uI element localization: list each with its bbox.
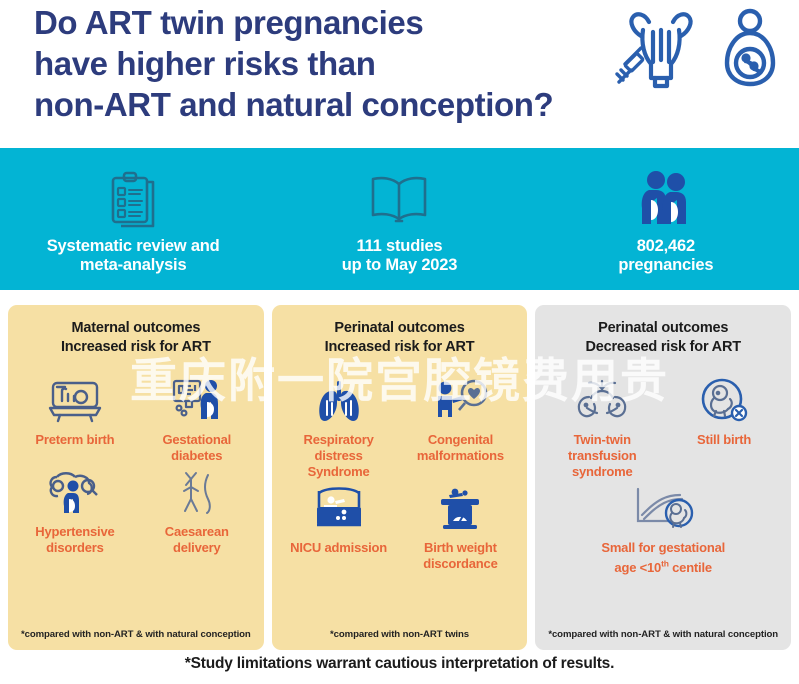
uterus-syringe-icon <box>611 8 711 95</box>
stat-label-studies: 111 studies up to May 2023 <box>342 237 458 275</box>
outcome-label-hypertensive-disorders: Hypertensive disorders <box>35 524 114 556</box>
page-title: Do ART twin pregnancies have higher risk… <box>34 2 594 125</box>
open-book-icon <box>368 169 430 229</box>
stat-item-studies: 111 studies up to May 2023 <box>266 148 532 290</box>
card-grid-perinatal-decreased: Twin-twin transfusion syndrome <box>541 374 785 629</box>
card-note-perinatal-decreased: *compared with non-ART & with natural co… <box>541 629 785 642</box>
footer-disclaimer: *Study limitations warrant cautious inte… <box>0 655 799 673</box>
card-title-perinatal-increased: Perinatal outcomes Increased risk for AR… <box>278 319 522 356</box>
outcome-respiratory-distress: Respiratory distress Syndrome <box>278 374 400 480</box>
header-icon-group <box>611 8 781 95</box>
outcome-small-for-gestational-age: Small for gestational age <10th centile <box>541 482 785 576</box>
incubator-icon <box>48 374 102 426</box>
two-pregnant-people-icon <box>637 169 695 229</box>
page-title-line-2: have higher risks than <box>34 43 594 84</box>
card-note-maternal: *compared with non-ART & with natural co… <box>14 629 258 642</box>
stat-item-systematic-review: Systematic review and meta-analysis <box>0 148 266 290</box>
outcome-label-nicu-admission: NICU admission <box>290 540 387 556</box>
blood-pressure-pregnant-icon <box>47 466 103 518</box>
outcome-twin-twin-transfusion: Twin-twin transfusion syndrome <box>541 374 663 480</box>
outcome-label-birth-weight-discordance: Birth weight discordance <box>423 540 497 572</box>
outcome-hypertensive-disorders: Hypertensive disorders <box>14 466 136 556</box>
card-perinatal-decreased: Perinatal outcomes Decreased risk for AR… <box>535 305 791 650</box>
card-grid-perinatal-increased: Respiratory distress Syndrome <box>278 374 522 629</box>
nicu-incubator-icon <box>311 482 367 534</box>
baby-heart-magnifier-icon <box>431 374 489 426</box>
clipboard-checklist-icon <box>107 169 159 229</box>
outcome-label-twin-twin-transfusion: Twin-twin transfusion syndrome <box>568 432 637 480</box>
stat-label-pregnancies: 802,462 pregnancies <box>618 237 713 275</box>
outcome-still-birth: Still birth <box>663 374 785 480</box>
outcome-label-respiratory-distress: Respiratory distress Syndrome <box>280 432 398 480</box>
outcome-congenital-malformations: Congenital malformations <box>400 374 522 480</box>
card-perinatal-increased: Perinatal outcomes Increased risk for AR… <box>272 305 528 650</box>
outcome-preterm-birth: Preterm birth <box>14 374 136 464</box>
sga-line-2: age <10th centile <box>614 560 712 575</box>
outcome-cards: Maternal outcomes Increased risk for ART <box>0 305 799 650</box>
outcome-label-preterm-birth: Preterm birth <box>35 432 114 448</box>
twin-fetuses-placenta-icon <box>573 374 631 426</box>
outcome-gestational-diabetes: Gestational diabetes <box>136 374 258 464</box>
lungs-icon <box>313 374 365 426</box>
card-maternal-outcomes: Maternal outcomes Increased risk for ART <box>8 305 264 650</box>
stat-label-systematic-review: Systematic review and meta-analysis <box>47 237 220 275</box>
outcome-label-caesarean-delivery: Caesarean delivery <box>165 524 229 556</box>
growth-chart-fetus-icon <box>624 482 702 534</box>
outcome-label-gestational-diabetes: Gestational diabetes <box>162 432 231 464</box>
outcome-birth-weight-discordance: Birth weight discordance <box>400 482 522 572</box>
card-grid-maternal: Preterm birth <box>14 374 258 629</box>
stat-item-pregnancies: 802,462 pregnancies <box>533 148 799 290</box>
stillbirth-fetus-cross-icon <box>698 374 750 426</box>
outcome-caesarean-delivery: Caesarean delivery <box>136 466 258 556</box>
card-title-perinatal-decreased: Perinatal outcomes Decreased risk for AR… <box>541 319 785 356</box>
page-title-line-1: Do ART twin pregnancies <box>34 2 594 43</box>
outcome-label-still-birth: Still birth <box>697 432 751 448</box>
outcome-label-small-for-gestational-age: Small for gestational age <10th centile <box>601 540 725 576</box>
header: Do ART twin pregnancies have higher risk… <box>0 0 799 145</box>
stats-band: Systematic review and meta-analysis 111 … <box>0 148 799 290</box>
card-note-perinatal-increased: *compared with non-ART twins <box>278 629 522 642</box>
caesarean-scar-icon <box>174 466 220 518</box>
baby-weight-scale-icon <box>435 482 485 534</box>
outcome-nicu-admission: NICU admission <box>278 482 400 572</box>
page-title-line-3: non-ART and natural conception? <box>34 84 594 125</box>
outcome-label-congenital-malformations: Congenital malformations <box>417 432 504 464</box>
pregnant-twins-icon <box>719 8 781 95</box>
glucose-monitor-pregnant-icon <box>170 374 224 426</box>
card-title-maternal: Maternal outcomes Increased risk for ART <box>14 319 258 356</box>
